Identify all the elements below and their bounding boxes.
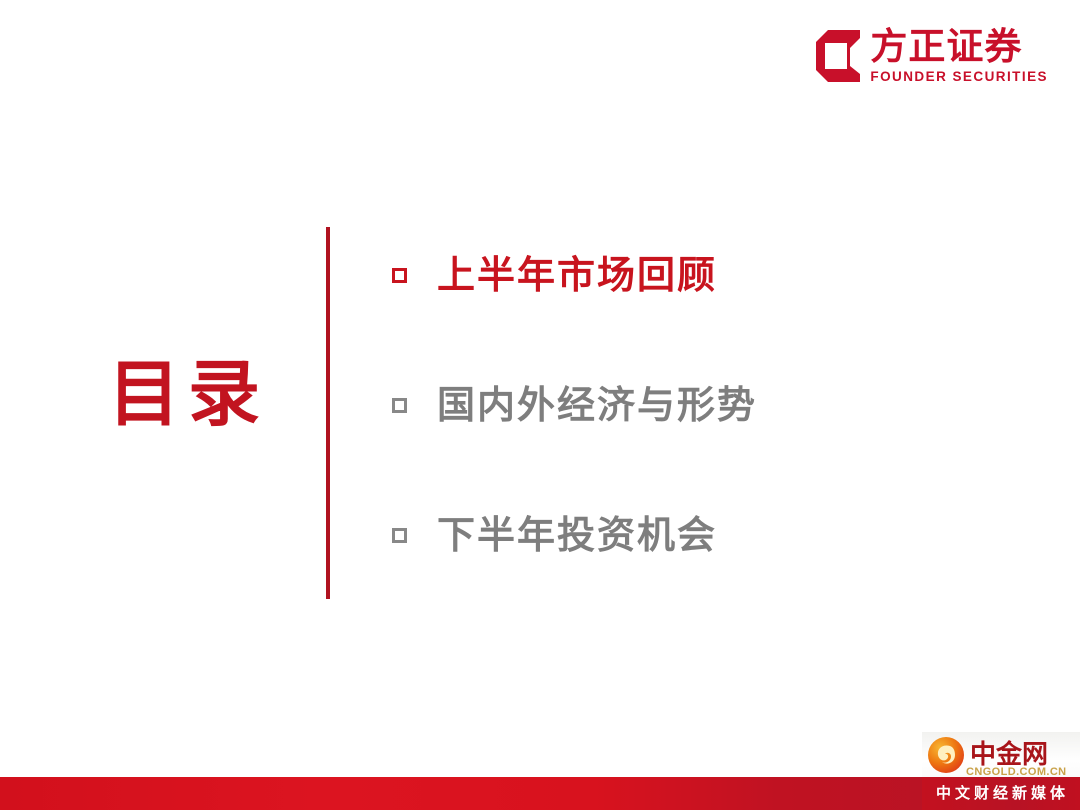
brand-name-en: FOUNDER SECURITIES (870, 69, 1048, 84)
toc-item-label: 上半年市场回顾 (437, 256, 717, 294)
toc-item-label: 国内外经济与形势 (437, 386, 757, 424)
toc-item-label: 下半年投资机会 (437, 516, 717, 554)
slide-canvas: 方正证券 FOUNDER SECURITIES 目录 上半年市场回顾 国内外经济… (0, 0, 1080, 810)
vertical-divider (326, 227, 330, 599)
brand-name-cn: 方正证券 (870, 28, 1022, 66)
slide-content: 目录 上半年市场回顾 国内外经济与形势 下半年投资机会 (0, 210, 1080, 610)
hollow-square-bullet-icon (392, 268, 407, 283)
watermark-url: CNGOLD.COM.CN (966, 766, 1067, 778)
cngold-swirl-logo-icon (928, 737, 964, 773)
watermark-top: 中金网 CNGOLD.COM.CN (922, 732, 1080, 777)
watermark: 中金网 CNGOLD.COM.CN 中文财经新媒体 (922, 732, 1080, 810)
footer-band (0, 777, 1080, 810)
watermark-tagline: 中文财经新媒体 (933, 786, 1069, 801)
page-title: 目录 (108, 358, 268, 430)
toc-list: 上半年市场回顾 国内外经济与形势 下半年投资机会 (392, 210, 992, 600)
toc-item-2[interactable]: 国内外经济与形势 (392, 340, 992, 470)
founder-securities-logo-mark-icon (816, 30, 860, 82)
toc-item-1[interactable]: 上半年市场回顾 (392, 210, 992, 340)
brand-logo: 方正证券 FOUNDER SECURITIES (816, 28, 1048, 84)
toc-item-3[interactable]: 下半年投资机会 (392, 470, 992, 600)
hollow-square-bullet-icon (392, 528, 407, 543)
watermark-bottom: 中文财经新媒体 (922, 777, 1080, 810)
watermark-name: 中金网 (970, 742, 1048, 768)
hollow-square-bullet-icon (392, 398, 407, 413)
brand-text-block: 方正证券 FOUNDER SECURITIES (870, 28, 1048, 84)
